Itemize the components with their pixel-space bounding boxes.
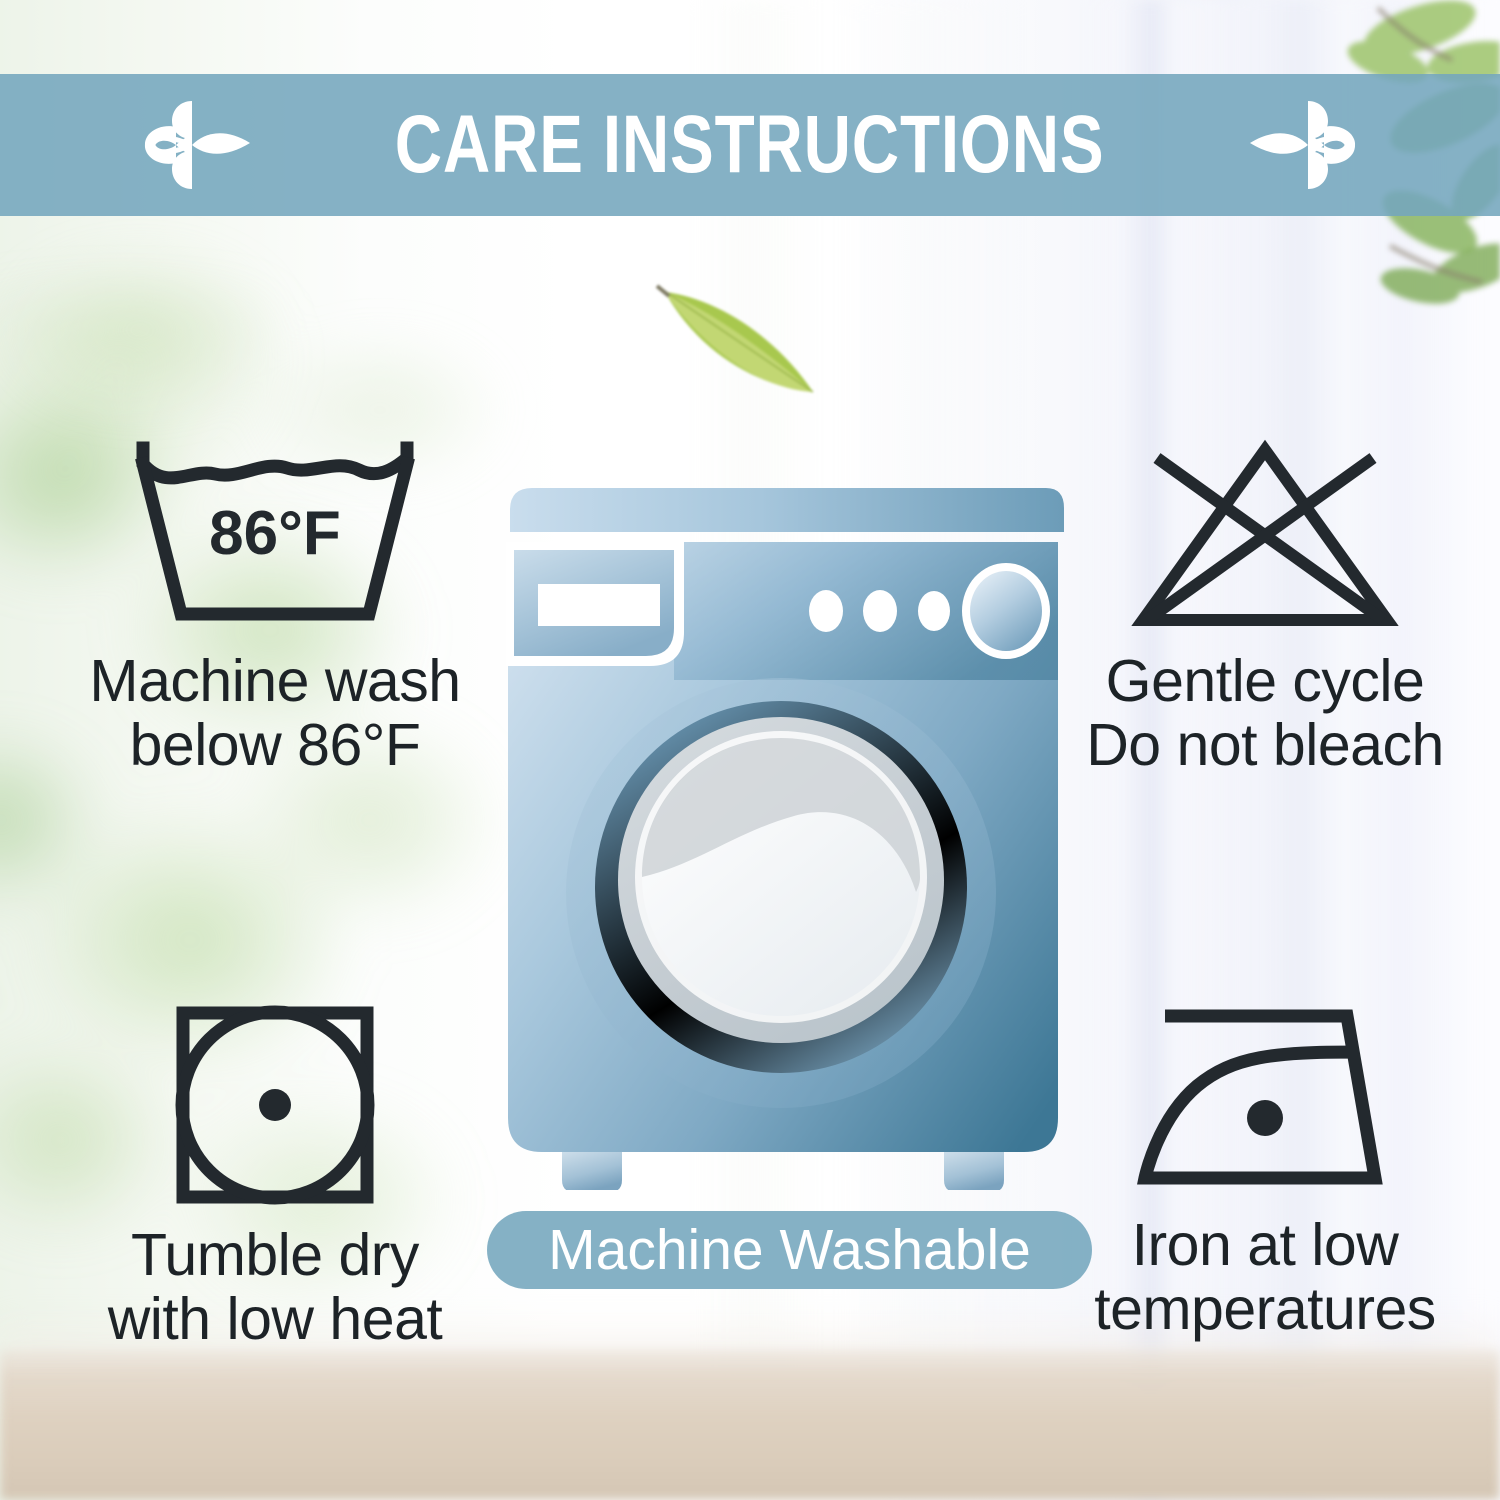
- care-symbol-do-not-bleach: Gentle cycle Do not bleach: [1030, 436, 1500, 777]
- background-wood-surface: [0, 1350, 1500, 1500]
- indicator-light: [918, 591, 950, 631]
- tumble-dry-square-circle-icon: [170, 1000, 380, 1210]
- heat-level-dot: [1247, 1100, 1283, 1136]
- machine-foot: [944, 1152, 1004, 1190]
- machine-washable-badge: Machine Washable: [487, 1211, 1092, 1289]
- control-knob[interactable]: [970, 571, 1042, 651]
- care-symbol-label: Iron at low temperatures: [1094, 1214, 1436, 1341]
- floating-leaf-icon: [655, 280, 825, 405]
- wash-tub-icon: 86°F: [125, 436, 425, 636]
- heat-level-dot: [259, 1089, 291, 1121]
- care-symbol-label: Machine wash below 86°F: [89, 650, 460, 777]
- care-symbol-iron: Iron at low temperatures: [1030, 1000, 1500, 1341]
- iron-icon: [1125, 1000, 1405, 1200]
- care-symbol-machine-wash: 86°F Machine wash below 86°F: [40, 436, 510, 777]
- machine-foot: [562, 1152, 622, 1190]
- machine-top-strip: [510, 488, 1064, 532]
- care-instructions-infographic: CARE INSTRUCTIONS 86°F Machine wash belo…: [0, 0, 1500, 1500]
- washing-machine-illustration: [498, 480, 1068, 1190]
- wash-temperature-value: 86°F: [209, 499, 341, 568]
- triangle-crossed-out-icon: [1115, 436, 1415, 636]
- indicator-light: [809, 590, 843, 632]
- care-symbol-tumble-dry: Tumble dry with low heat: [40, 1000, 510, 1351]
- care-symbol-label: Tumble dry with low heat: [108, 1224, 443, 1351]
- header-banner: CARE INSTRUCTIONS: [0, 74, 1500, 216]
- badge-label: Machine Washable: [548, 1222, 1031, 1279]
- indicator-light: [863, 590, 897, 632]
- page-title: CARE INSTRUCTIONS: [395, 104, 1105, 186]
- drawer-slot: [538, 584, 660, 626]
- fleur-de-lis-ornament-icon: [1244, 97, 1372, 193]
- care-symbol-label: Gentle cycle Do not bleach: [1086, 650, 1444, 777]
- fleur-de-lis-ornament-icon: [128, 97, 256, 193]
